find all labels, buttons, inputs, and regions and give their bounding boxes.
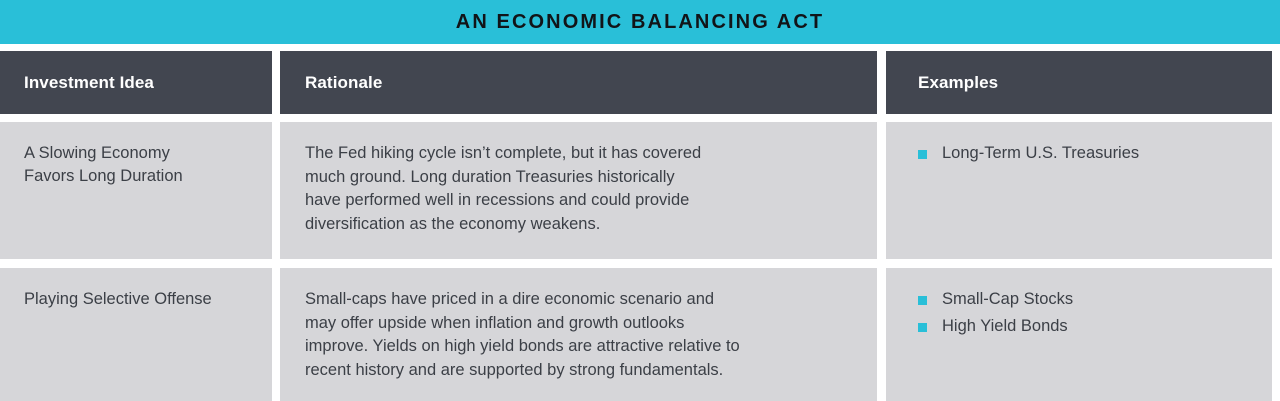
comparison-table: Investment Idea Rationale Examples A Slo…	[0, 51, 1272, 401]
example-label: High Yield Bonds	[942, 317, 1068, 335]
square-bullet-icon	[918, 150, 927, 159]
rationale-text: The Fed hiking cycle isn’t complete, but…	[280, 142, 877, 236]
square-bullet-icon	[918, 296, 927, 305]
list-item: Small-Cap Stocks	[918, 288, 1260, 312]
investment-idea-text: Playing Selective Offense	[0, 288, 272, 311]
table-row: Playing Selective Offense Small-caps hav…	[0, 268, 1272, 401]
example-label: Long-Term U.S. Treasuries	[942, 144, 1139, 162]
square-bullet-icon	[918, 323, 927, 332]
cell-investment-idea: Playing Selective Offense	[0, 268, 272, 401]
table-header-row: Investment Idea Rationale Examples	[0, 51, 1272, 114]
title-banner: An Economic Balancing Act	[0, 0, 1280, 44]
column-header-label: Examples	[886, 73, 998, 93]
rationale-text: Small-caps have priced in a dire economi…	[280, 288, 877, 382]
cell-examples: Small-Cap Stocks High Yield Bonds	[886, 268, 1272, 401]
example-label: Small-Cap Stocks	[942, 290, 1073, 308]
column-header-label: Rationale	[280, 73, 382, 93]
cell-examples: Long-Term U.S. Treasuries	[886, 122, 1272, 259]
list-item: High Yield Bonds	[918, 315, 1260, 339]
cell-investment-idea: A Slowing Economy Favors Long Duration	[0, 122, 272, 259]
table-row: A Slowing Economy Favors Long Duration T…	[0, 122, 1272, 259]
cell-rationale: The Fed hiking cycle isn’t complete, but…	[280, 122, 877, 259]
column-header-investment-idea: Investment Idea	[0, 51, 272, 114]
economic-balancing-act-infographic: An Economic Balancing Act Investment Ide…	[0, 0, 1280, 401]
column-header-examples: Examples	[886, 51, 1272, 114]
cell-rationale: Small-caps have priced in a dire economi…	[280, 268, 877, 401]
column-header-rationale: Rationale	[280, 51, 877, 114]
examples-list: Small-Cap Stocks High Yield Bonds	[886, 288, 1272, 338]
column-header-label: Investment Idea	[0, 73, 154, 93]
page-title: An Economic Balancing Act	[456, 12, 824, 32]
investment-idea-text: A Slowing Economy Favors Long Duration	[0, 142, 272, 188]
list-item: Long-Term U.S. Treasuries	[918, 142, 1260, 166]
examples-list: Long-Term U.S. Treasuries	[886, 142, 1272, 166]
